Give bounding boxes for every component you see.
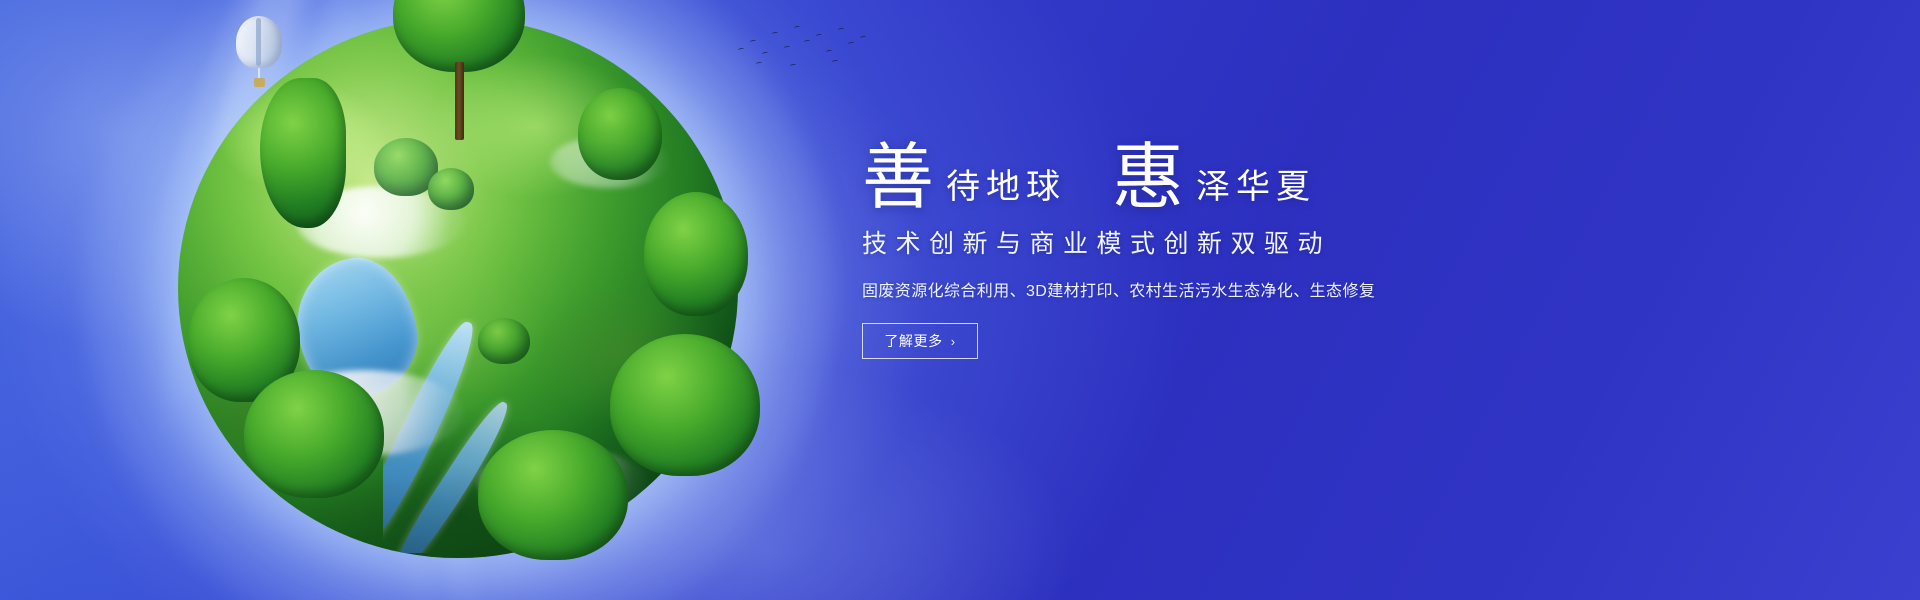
learn-more-label: 了解更多 <box>884 331 942 351</box>
headline-small-1: 待地球 <box>946 170 1066 210</box>
headline-small-2: 泽华夏 <box>1196 170 1316 210</box>
learn-more-button[interactable]: 了解更多 › <box>862 323 978 359</box>
headline-big-2: 惠 <box>1112 144 1184 210</box>
headline-group-1: 善 待地球 <box>862 144 1066 210</box>
headline-group-2: 惠 泽华夏 <box>1112 144 1316 210</box>
hero-description: 固废资源化综合利用、3D建材打印、农村生活污水生态净化、生态修复 <box>862 277 1562 301</box>
chevron-right-icon: › <box>951 334 956 349</box>
hero-subtitle: 技术创新与商业模式创新双驱动 <box>862 224 1562 260</box>
green-earth-planet <box>148 0 768 598</box>
hero-banner: 善 待地球 惠 泽华夏 技术创新与商业模式创新双驱动 固废资源化综合利用、3D建… <box>0 0 1920 600</box>
hero-copy: 善 待地球 惠 泽华夏 技术创新与商业模式创新双驱动 固废资源化综合利用、3D建… <box>862 118 1562 359</box>
bird-flock-icon <box>734 20 874 72</box>
page-title: 善 待地球 惠 泽华夏 <box>862 118 1562 210</box>
headline-big-1: 善 <box>862 144 934 210</box>
